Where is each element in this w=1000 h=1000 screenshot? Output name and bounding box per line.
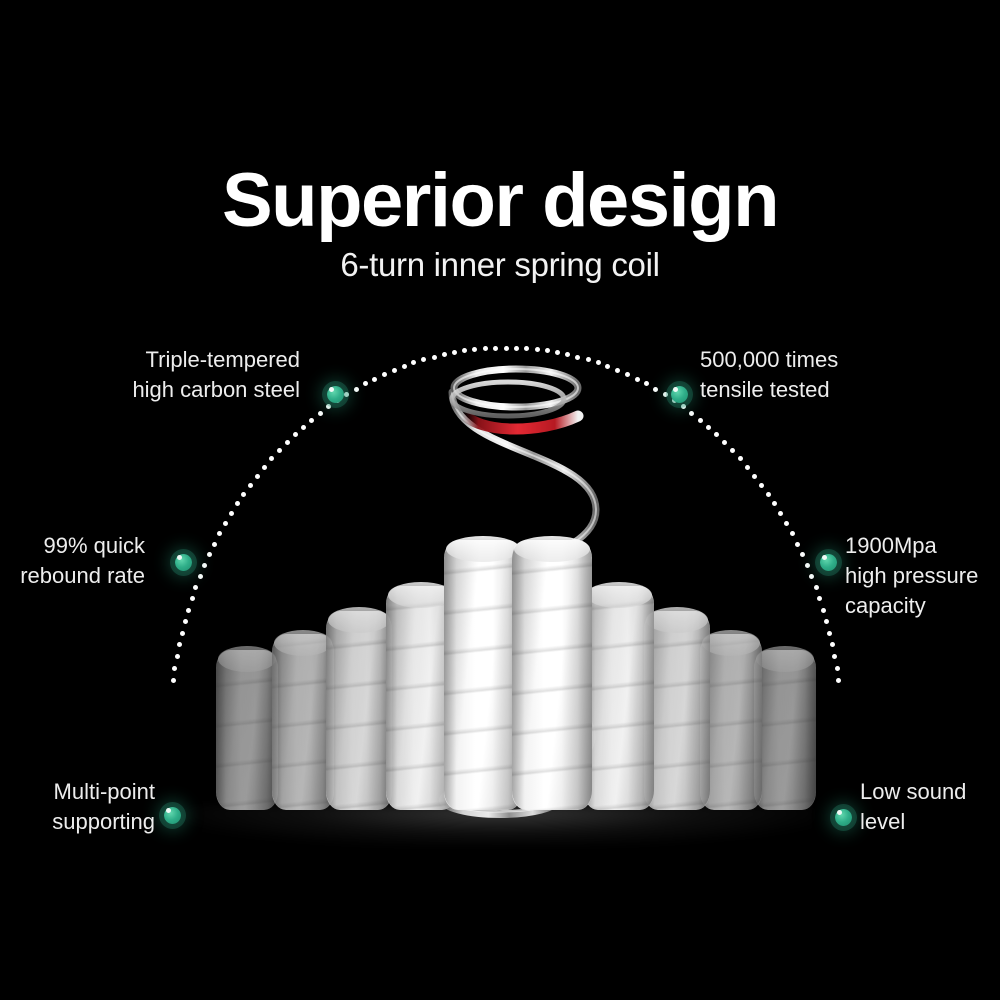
infographic-canvas: Superior design 6-turn inner spring coil…	[0, 0, 1000, 1000]
page-subtitle: 6-turn inner spring coil	[0, 248, 1000, 281]
pocket-spring-shading	[216, 650, 278, 810]
callout-line: Multi-point	[0, 777, 155, 807]
pocket-spring-fabric	[754, 650, 816, 810]
callout-line: Low sound	[860, 777, 1000, 807]
pocket-spring-cylinder	[754, 650, 816, 810]
callout-low-sound-level: Low sound level	[860, 777, 1000, 837]
pocket-spring-shading	[272, 634, 334, 810]
callout-line: supporting	[0, 807, 155, 837]
pocket-spring-fabric	[444, 540, 522, 810]
callout-500000-times-tensile-tested: 500,000 times tensile tested	[700, 345, 960, 405]
pocket-spring-fabric	[216, 650, 278, 810]
pocket-spring-top-cap	[514, 536, 589, 562]
callout-1900mpa-high-pressure-capacity: 1900Mpa high pressure capacity	[845, 531, 1000, 621]
callout-line: capacity	[845, 591, 1000, 621]
pocket-spring-top-cap	[756, 646, 814, 672]
pocket-spring-cylinder	[512, 540, 592, 810]
callout-line: tensile tested	[700, 375, 960, 405]
page-title: Superior design	[0, 163, 1000, 239]
pocket-spring-cylinder	[584, 586, 654, 810]
pocket-spring-top-cap	[586, 582, 652, 608]
pocket-spring-top-cap	[218, 646, 276, 672]
pocket-spring-cylinder	[272, 634, 334, 810]
pocket-spring-shading	[444, 540, 522, 810]
pocket-spring-cylinder	[326, 611, 392, 810]
callout-line: Triple-tempered	[40, 345, 300, 375]
inner-spring-coil-graphic	[0, 0, 1000, 1000]
callout-multi-point-supporting: Multi-point supporting	[0, 777, 155, 837]
pocket-spring-cylinder	[444, 540, 522, 810]
callout-line: 1900Mpa	[845, 531, 1000, 561]
callout-99-percent-quick-rebound-rate: 99% quick rebound rate	[0, 531, 145, 591]
pocket-spring-fabric	[326, 611, 392, 810]
pocket-spring-top-cap	[274, 630, 332, 656]
pocket-spring-top-cap	[646, 607, 708, 633]
pocket-spring-shading	[512, 540, 592, 810]
pocket-spring-fabric	[272, 634, 334, 810]
callout-line: 500,000 times	[700, 345, 960, 375]
pocket-spring-fabric	[584, 586, 654, 810]
pocket-spring-shading	[754, 650, 816, 810]
callout-line: level	[860, 807, 1000, 837]
callout-line: 99% quick	[0, 531, 145, 561]
callout-triple-tempered-high-carbon-steel: Triple-tempered high carbon steel	[40, 345, 300, 405]
pocket-spring-shading	[584, 586, 654, 810]
callout-line: high pressure	[845, 561, 1000, 591]
callout-line: high carbon steel	[40, 375, 300, 405]
pocket-spring-product-image	[0, 0, 1000, 1000]
pocket-spring-top-cap	[328, 607, 390, 633]
callout-line: rebound rate	[0, 561, 145, 591]
pocket-spring-shading	[326, 611, 392, 810]
pocket-spring-fabric	[512, 540, 592, 810]
pocket-spring-top-cap	[702, 630, 760, 656]
pocket-spring-cylinder	[216, 650, 278, 810]
pocket-spring-top-cap	[446, 536, 519, 562]
